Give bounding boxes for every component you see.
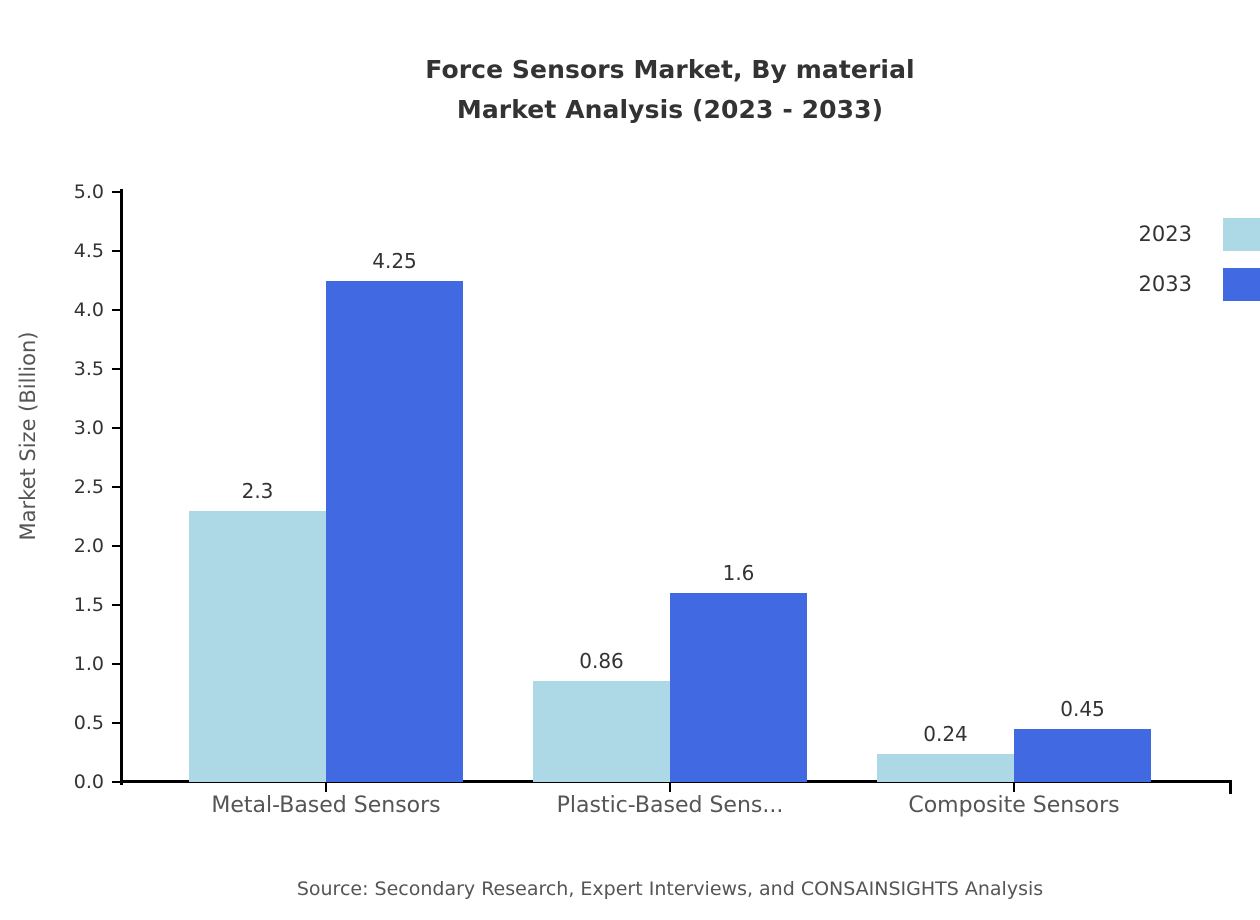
bar-2033-3[interactable] (1014, 729, 1151, 782)
chart-title: Force Sensors Market, By material Market… (0, 50, 1260, 130)
x-tick-mark (1013, 782, 1015, 792)
y-tick-label: 5.0 (46, 181, 104, 203)
y-tick-mark (112, 427, 122, 429)
y-tick-mark (112, 250, 122, 252)
x-tick-mark (669, 782, 671, 792)
bar-2033-2[interactable] (670, 593, 807, 782)
y-tick-mark (112, 781, 122, 783)
legend-item-2033[interactable]: 2033 (1020, 268, 1260, 301)
bar-value-label: 2.3 (178, 479, 338, 503)
y-tick-mark (112, 486, 122, 488)
chart-legend: 2023 2033 (1020, 218, 1260, 318)
y-tick-mark (112, 191, 122, 193)
y-tick-mark (112, 604, 122, 606)
legend-item-2023[interactable]: 2023 (1020, 218, 1260, 251)
bar-2023-2[interactable] (533, 681, 670, 782)
y-tick-label: 1.0 (46, 653, 104, 675)
x-category-label: Plastic-Based Sens... (490, 793, 850, 818)
y-tick-label: 0.0 (46, 771, 104, 793)
legend-swatch-2023 (1223, 218, 1260, 251)
y-tick-mark (112, 309, 122, 311)
bar-2023-1[interactable] (189, 511, 326, 782)
y-tick-mark (112, 368, 122, 370)
y-tick-label: 0.5 (46, 712, 104, 734)
bar-value-label: 0.45 (1003, 697, 1163, 721)
y-tick-label: 4.0 (46, 299, 104, 321)
legend-label-2023: 2023 (1020, 218, 1192, 251)
x-category-label: Composite Sensors (834, 793, 1194, 818)
y-tick-mark (112, 545, 122, 547)
legend-swatch-2033 (1223, 268, 1260, 301)
y-axis-title: Market Size (Billion) (16, 176, 40, 696)
bar-value-label: 0.24 (866, 722, 1026, 746)
y-tick-mark (112, 663, 122, 665)
y-tick-label: 3.5 (46, 358, 104, 380)
bar-value-label: 0.86 (522, 649, 682, 673)
y-tick-label: 2.5 (46, 476, 104, 498)
y-tick-label: 3.0 (46, 417, 104, 439)
bar-2033-1[interactable] (326, 281, 463, 783)
chart-title-line-2: Market Analysis (2023 - 2033) (0, 90, 1260, 130)
bar-2023-3[interactable] (877, 754, 1014, 782)
bar-value-label: 1.6 (659, 561, 819, 585)
x-axis-end-tick (1229, 782, 1232, 794)
source-note: Source: Secondary Research, Expert Inter… (0, 878, 1260, 900)
y-tick-label: 2.0 (46, 535, 104, 557)
x-tick-mark (325, 782, 327, 792)
legend-label-2033: 2033 (1020, 268, 1192, 301)
x-category-label: Metal-Based Sensors (146, 793, 506, 818)
chart-title-line-1: Force Sensors Market, By material (0, 50, 1260, 90)
y-tick-label: 1.5 (46, 594, 104, 616)
y-tick-mark (112, 722, 122, 724)
bar-value-label: 4.25 (315, 249, 475, 273)
y-tick-label: 4.5 (46, 240, 104, 262)
